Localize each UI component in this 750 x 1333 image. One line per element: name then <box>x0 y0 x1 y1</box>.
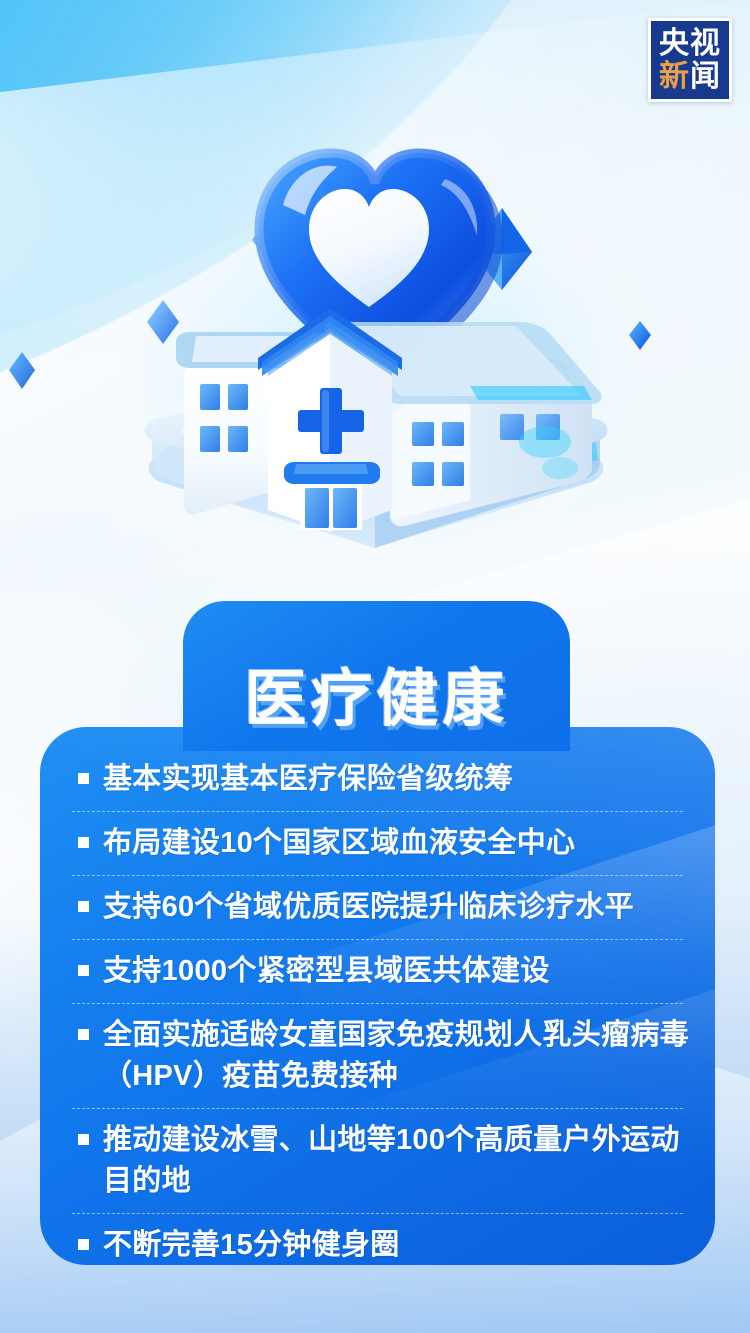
policy-list: 基本实现基本医疗保险省级统筹 布局建设10个国家区域血液安全中心 支持60个省域… <box>40 727 715 1265</box>
list-item: 基本实现基本医疗保险省级统筹 <box>66 759 689 800</box>
list-item-label: 基本实现基本医疗保险省级统筹 <box>103 759 513 800</box>
list-separator <box>72 1003 683 1004</box>
hospital-heart-3d-illustration <box>0 70 750 590</box>
list-item: 布局建设10个国家区域血液安全中心 <box>66 823 689 864</box>
list-item-label: 不断完善15分钟健身圈 <box>103 1225 400 1265</box>
logo-line-1: 央 视 <box>659 29 721 59</box>
content-panel: 基本实现基本医疗保险省级统筹 布局建设10个国家区域血液安全中心 支持60个省域… <box>40 727 715 1265</box>
square-bullet-icon <box>78 1134 89 1145</box>
square-bullet-icon <box>78 837 89 848</box>
list-item: 支持60个省域优质医院提升临床诊疗水平 <box>66 887 689 928</box>
list-item: 推动建设冰雪、山地等100个高质量户外运动目的地 <box>66 1120 689 1202</box>
list-separator <box>72 939 683 940</box>
square-bullet-icon <box>78 773 89 784</box>
list-item-label: 支持1000个紧密型县域医共体建设 <box>103 951 550 992</box>
list-separator <box>72 875 683 876</box>
list-item-label: 支持60个省域优质医院提升临床诊疗水平 <box>103 887 634 928</box>
list-item-label: 全面实施适龄女童国家免疫规划人乳头瘤病毒（HPV）疫苗免费接种 <box>103 1015 689 1097</box>
list-item: 支持1000个紧密型县域医共体建设 <box>66 951 689 992</box>
list-separator <box>72 1108 683 1109</box>
square-bullet-icon <box>78 1239 89 1250</box>
list-item: 全面实施适龄女童国家免疫规划人乳头瘤病毒（HPV）疫苗免费接种 <box>66 1015 689 1097</box>
logo-char-shi: 视 <box>690 29 721 59</box>
square-bullet-icon <box>78 1029 89 1040</box>
list-separator <box>72 811 683 812</box>
list-item-label: 推动建设冰雪、山地等100个高质量户外运动目的地 <box>103 1120 689 1202</box>
list-item-label: 布局建设10个国家区域血液安全中心 <box>103 823 575 864</box>
list-separator <box>72 1213 683 1214</box>
square-bullet-icon <box>78 965 89 976</box>
title-tab: 医疗健康 <box>183 601 570 751</box>
square-bullet-icon <box>78 901 89 912</box>
page-title: 医疗健康 <box>183 648 570 738</box>
logo-char-yang: 央 <box>659 29 690 59</box>
list-item: 不断完善15分钟健身圈 <box>66 1225 689 1265</box>
